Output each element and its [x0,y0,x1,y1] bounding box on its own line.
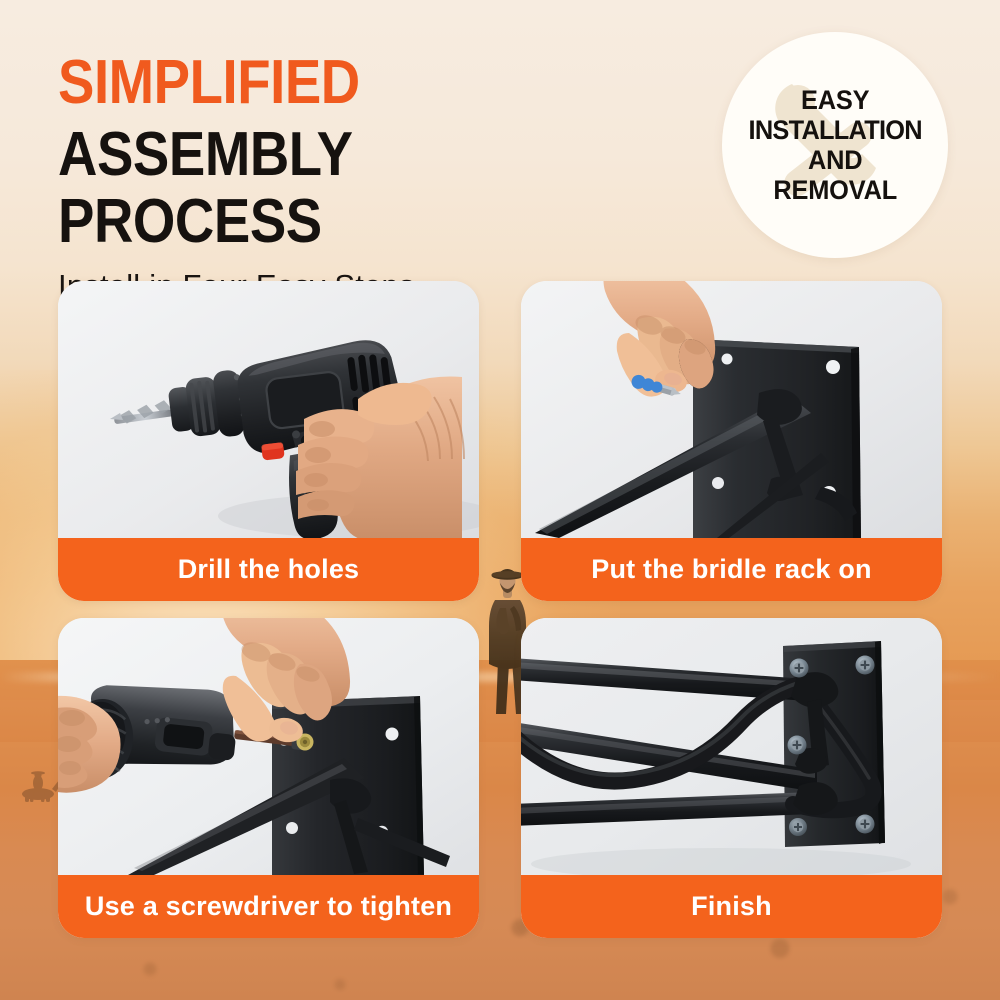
step-panel-4[interactable]: Finish [521,618,942,938]
step-panel-3[interactable]: Use a screwdriver to tighten [58,618,479,938]
step-2-photo [521,281,942,538]
step-2-caption: Put the bridle rack on [521,538,942,601]
step-3-caption: Use a screwdriver to tighten [58,875,479,938]
page-title-line2: ASSEMBLY PROCESS [58,122,604,256]
step-4-photo [521,618,942,875]
step-4-caption: Finish [521,875,942,938]
badge-line-3: AND [748,145,921,175]
header: SIMPLIFIED ASSEMBLY PROCESS Install in F… [58,52,678,304]
infographic-canvas: SIMPLIFIED ASSEMBLY PROCESS Install in F… [0,0,1000,1000]
step-1-photo [58,281,479,538]
step-3-photo [58,618,479,875]
steps-grid: Drill the holes [58,281,942,938]
step-panel-2[interactable]: Put the bridle rack on [521,281,942,601]
badge-line-4: REMOVAL [748,175,921,205]
step-panel-1[interactable]: Drill the holes [58,281,479,601]
step-1-caption: Drill the holes [58,538,479,601]
badge-line-1: EASY [748,85,921,115]
easy-installation-badge: EASY INSTALLATION AND REMOVAL [722,32,948,258]
badge-line-2: INSTALLATION [748,115,921,145]
badge-text: EASY INSTALLATION AND REMOVAL [743,85,928,206]
page-title-line1: SIMPLIFIED [58,52,604,114]
